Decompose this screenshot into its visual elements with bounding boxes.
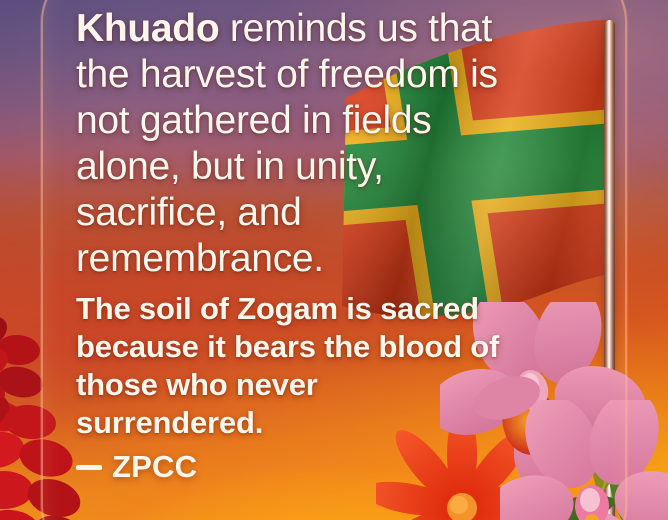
- main-quote: Khuado reminds us that the harvest of fr…: [76, 6, 506, 282]
- sub-quote: The soil of Zogam is sacred because it b…: [76, 290, 506, 442]
- poster-canvas: Khuado reminds us that the harvest of fr…: [0, 0, 668, 520]
- attribution: ZPCC: [76, 448, 506, 486]
- em-dash-icon: [76, 465, 102, 470]
- attribution-label: ZPCC: [112, 448, 197, 486]
- quote-block: Khuado reminds us that the harvest of fr…: [76, 6, 506, 486]
- quote-lead-word: Khuado: [76, 7, 219, 50]
